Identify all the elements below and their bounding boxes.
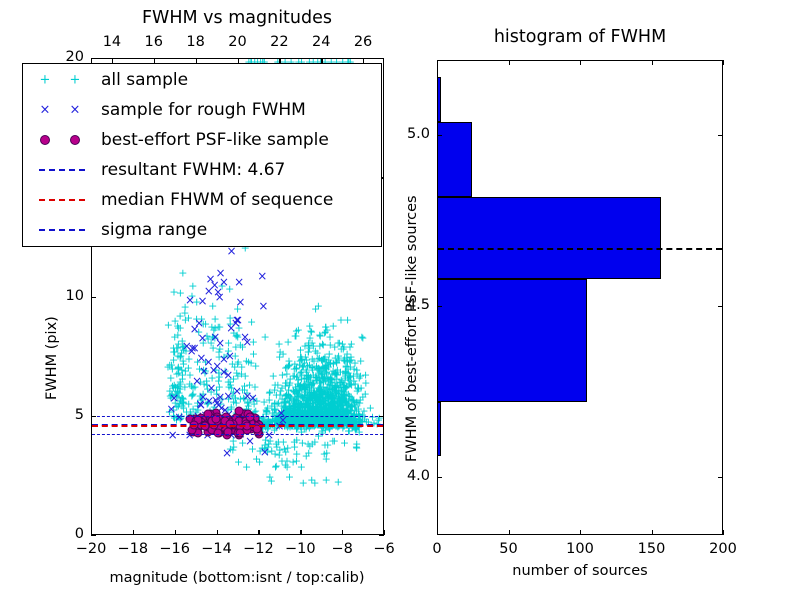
hist-x-tick-label: 0 (432, 541, 441, 557)
hist-x-tick-label: 100 (566, 541, 594, 557)
legend-item-label: all sample (101, 70, 188, 90)
hist-y-tick-label: 5.0 (407, 126, 430, 142)
legend-item-label: best-effort PSF-like sample (101, 130, 329, 150)
legend-item-label: sigma range (101, 220, 207, 240)
legend-item-label: median FHWM of sequence (101, 190, 333, 210)
hist-y-tick-right (718, 306, 723, 307)
hist-x-tick (580, 530, 581, 535)
x-tick-label-top: 16 (145, 34, 163, 50)
x-tick-label-top: 14 (103, 34, 121, 50)
hist-y-tick (437, 477, 442, 478)
y-tick-label: 10 (66, 288, 84, 304)
legend-box: ++all sample××sample for rough FWHMbest-… (22, 63, 382, 247)
y-tick-right (379, 58, 384, 59)
y-tick-left (91, 416, 96, 417)
x-tick-bottom (217, 530, 218, 535)
right-panel-ylabel: FWHM of best-effort PSF-like sources (404, 195, 420, 462)
right-panel-xlabel: number of sources (512, 563, 648, 579)
y-tick-label: 0 (75, 526, 84, 542)
x-tick-label-bottom: −10 (285, 541, 316, 557)
x-tick-bottom (300, 530, 301, 535)
hist-x-tick-label: 200 (709, 541, 737, 557)
x-tick-label-top: 26 (354, 34, 372, 50)
hist-x-tick (723, 530, 724, 535)
legend-circle-icon (70, 135, 80, 145)
x-tick-label-bottom: −18 (118, 541, 149, 557)
x-tick-bottom (342, 530, 343, 535)
legend-item: resultant FWHM: 4.67 (23, 155, 381, 185)
hist-y-tick-label: 4.0 (407, 468, 430, 484)
x-tick-label-bottom: −20 (76, 541, 107, 557)
y-tick-label: 5 (75, 407, 84, 423)
right-panel-title: histogram of FWHM (494, 27, 666, 47)
hist-x-tick (652, 530, 653, 535)
right-panel-frame (437, 60, 723, 535)
left-panel-xlabel: magnitude (bottom:isnt / top:calib) (109, 570, 364, 586)
legend-item-label: resultant FWHM: 4.67 (101, 160, 285, 180)
x-tick-label-bottom: −14 (201, 541, 232, 557)
legend-circle-icon (40, 135, 50, 145)
legend-plus-icon: + (40, 74, 51, 87)
hist-x-tick-top (652, 60, 653, 65)
x-tick-label-bottom: −16 (159, 541, 190, 557)
hist-y-tick (437, 135, 442, 136)
legend-item-label: sample for rough FWHM (101, 100, 306, 120)
legend-dashed-line-icon (39, 199, 85, 201)
x-tick-label-top: 24 (312, 34, 330, 50)
legend-plus-icon: + (70, 74, 81, 87)
hist-x-tick-label: 150 (638, 541, 666, 557)
legend-item: ××sample for rough FWHM (23, 95, 381, 125)
y-tick-left (91, 297, 96, 298)
y-tick-right (379, 535, 384, 536)
hist-y-tick (437, 306, 442, 307)
x-tick-bottom (258, 530, 259, 535)
hist-x-tick (509, 530, 510, 535)
left-panel-title: FWHM vs magnitudes (142, 8, 332, 28)
legend-cross-icon: × (40, 104, 51, 117)
legend-dashed-line-icon (39, 169, 85, 171)
x-tick-bottom (384, 530, 385, 535)
legend-dashdot-line-icon (39, 229, 85, 231)
x-tick-label-bottom: −8 (331, 541, 352, 557)
hist-x-tick-label: 50 (499, 541, 517, 557)
left-panel-ylabel: FWHM (pix) (44, 316, 60, 400)
hist-x-tick-top (509, 60, 510, 65)
hist-x-tick-top (437, 60, 438, 65)
legend-item: sigma range (23, 215, 381, 245)
legend-cross-icon: × (70, 104, 81, 117)
figure-canvas: FWHM vs magnitudes 14161820222426 −20−18… (0, 0, 800, 600)
y-tick-right (379, 416, 384, 417)
x-tick-label-bottom: −6 (373, 541, 394, 557)
hist-y-tick-right (718, 477, 723, 478)
x-tick-label-bottom: −12 (243, 541, 274, 557)
x-tick-bottom (175, 530, 176, 535)
legend-item: best-effort PSF-like sample (23, 125, 381, 155)
legend-item: median FHWM of sequence (23, 185, 381, 215)
y-tick-right (379, 297, 384, 298)
x-tick-bottom (133, 530, 134, 535)
hist-x-tick-top (580, 60, 581, 65)
y-tick-left (91, 535, 96, 536)
hist-y-tick-right (718, 135, 723, 136)
legend-item: ++all sample (23, 65, 381, 95)
hist-x-tick (437, 530, 438, 535)
hist-y-tick-label: 4.5 (407, 297, 430, 313)
x-tick-label-top: 22 (270, 34, 288, 50)
y-tick-left (91, 58, 96, 59)
hist-x-tick-top (723, 60, 724, 65)
x-tick-label-top: 20 (228, 34, 246, 50)
x-tick-label-top: 18 (186, 34, 204, 50)
